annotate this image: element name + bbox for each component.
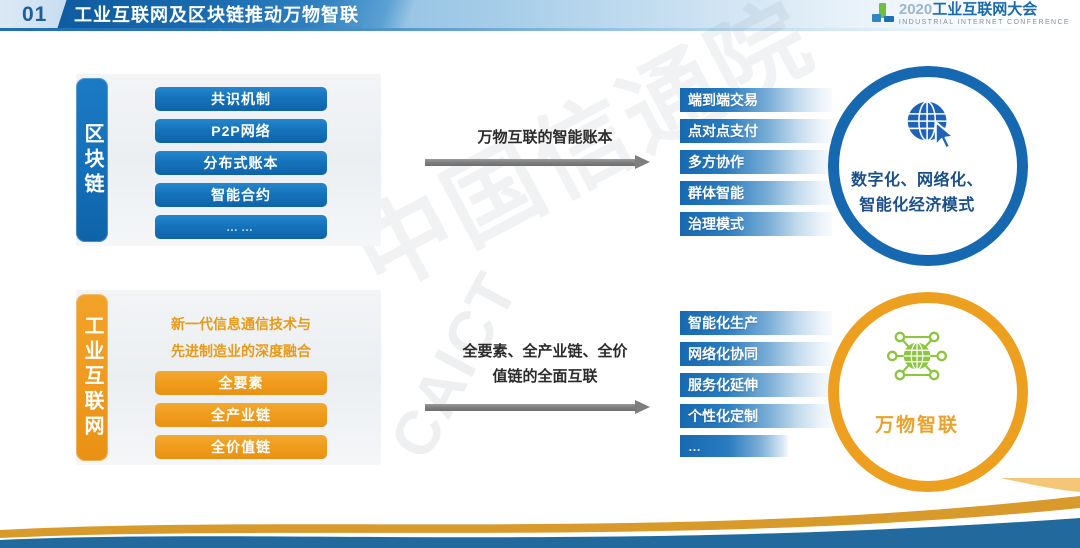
blockchain-outcome-1-label: 点对点支付 (688, 121, 758, 141)
blockchain-outcome-3-label: 群体智能 (688, 183, 744, 203)
industrial-internet-item-2-label: 全价值链 (211, 437, 271, 457)
blockchain-outcome-2-label: 多方协作 (688, 152, 744, 172)
blockchain-arrow (425, 158, 650, 167)
industrial-internet-outcome-4[interactable]: … (680, 435, 788, 457)
blockchain-item-2[interactable]: 分布式账本 (155, 151, 327, 175)
blockchain-item-0-label: 共识机制 (211, 89, 271, 109)
industrial-internet-outcome-3[interactable]: 个性化定制 (680, 404, 832, 428)
page-title: 工业互联网及区块链推动万物智联 (74, 2, 434, 28)
industrial-internet-arrow (425, 403, 650, 412)
blockchain-item-1-label: P2P网络 (211, 121, 270, 141)
industrial-internet-item-1[interactable]: 全产业链 (155, 403, 327, 427)
blockchain-outcome-4-label: 治理模式 (688, 214, 744, 234)
industrial-internet-result-label: 万物智联 (828, 410, 1006, 437)
section-number: 01 (22, 3, 47, 27)
industrial-internet-item-0[interactable]: 全要素 (155, 371, 327, 395)
blockchain-tab-label: 区块链 (82, 123, 102, 198)
blockchain-arrow-label: 万物互联的智能账本 (420, 125, 670, 150)
blockchain-item-1[interactable]: P2P网络 (155, 119, 327, 143)
globe-cursor-icon (899, 95, 961, 157)
blockchain-outcome-4[interactable]: 治理模式 (680, 212, 832, 236)
blockchain-item-2-label: 分布式账本 (204, 153, 279, 173)
logo-name: 工业互联网大会 (932, 1, 1037, 18)
industrial-internet-outcome-2-label: 服务化延伸 (688, 375, 758, 395)
industrial-internet-outcome-3-label: 个性化定制 (688, 406, 758, 426)
industrial-internet-arrow-label-line1: 全要素、全产业链、全价 (420, 339, 670, 364)
logo-year: 2020 (899, 1, 932, 18)
industrial-internet-tab: 工业互联网 (76, 294, 108, 461)
blockchain-outcome-0[interactable]: 端到端交易 (680, 88, 832, 112)
blockchain-outcome-0-label: 端到端交易 (688, 90, 758, 110)
industrial-internet-outcome-4-label: … (688, 439, 703, 454)
footer-decoration (0, 478, 1080, 548)
blockchain-outcome-3[interactable]: 群体智能 (680, 181, 832, 205)
industrial-internet-heading-line2: 先进制造业的深度融合 (150, 339, 332, 364)
industrial-internet-item-1-label: 全产业链 (211, 405, 271, 425)
blockchain-item-0[interactable]: 共识机制 (155, 87, 327, 111)
slide-canvas: 01 工业互联网及区块链推动万物智联 2020工业互联网大会 INDUSTRIA… (0, 0, 1080, 548)
header-underline (0, 28, 1080, 31)
blockchain-result-line2: 智能化经济模式 (828, 193, 1006, 218)
blockchain-result-line1: 数字化、网络化、 (828, 168, 1006, 193)
network-globe-icon (879, 318, 955, 394)
industrial-internet-outcome-0-label: 智能化生产 (688, 313, 758, 333)
blockchain-item-3-label: 智能合约 (211, 185, 271, 205)
blockchain-tab: 区块链 (76, 78, 108, 242)
industrial-internet-tab-label: 工业互联网 (82, 315, 102, 440)
industrial-internet-arrow-label-line2: 值链的全面互联 (420, 364, 670, 389)
blockchain-item-4-label: …… (226, 220, 256, 234)
logo-mark-icon (872, 3, 894, 25)
logo-title: 2020工业互联网大会 (899, 2, 1070, 17)
industrial-internet-outcome-0[interactable]: 智能化生产 (680, 311, 832, 335)
industrial-internet-outcome-1-label: 网络化协同 (688, 344, 758, 364)
blockchain-outcome-2[interactable]: 多方协作 (680, 150, 832, 174)
blockchain-item-4[interactable]: …… (155, 215, 327, 239)
industrial-internet-item-2[interactable]: 全价值链 (155, 435, 327, 459)
conference-logo: 2020工业互联网大会 INDUSTRIAL INTERNET CONFEREN… (872, 0, 1070, 28)
industrial-internet-outcome-2[interactable]: 服务化延伸 (680, 373, 832, 397)
industrial-internet-heading-line1: 新一代信息通信技术与 (150, 312, 332, 337)
industrial-internet-item-0-label: 全要素 (219, 373, 264, 393)
industrial-internet-outcome-1[interactable]: 网络化协同 (680, 342, 832, 366)
blockchain-outcome-1[interactable]: 点对点支付 (680, 119, 832, 143)
logo-subtitle: INDUSTRIAL INTERNET CONFERENCE (899, 19, 1070, 26)
blockchain-item-3[interactable]: 智能合约 (155, 183, 327, 207)
